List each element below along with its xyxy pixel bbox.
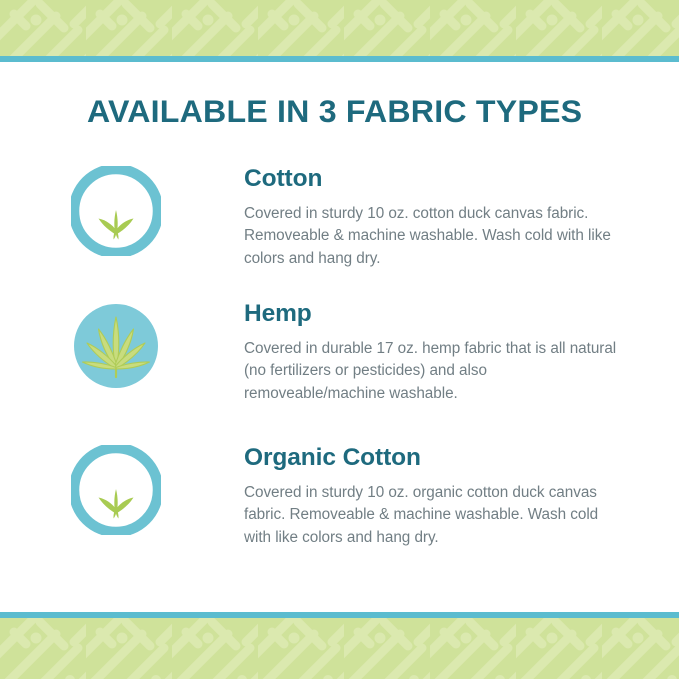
fabric-description: Covered in sturdy 10 oz. cotton duck can…: [244, 203, 624, 271]
bottom-band-pattern: [0, 618, 679, 679]
fabric-description: Covered in durable 17 oz. hemp fabric th…: [244, 338, 624, 406]
bottom-decorative-band: [0, 618, 679, 679]
page-title: AVAILABLE IN 3 FABRIC TYPES: [87, 93, 582, 130]
cotton-boll-icon: [71, 166, 161, 256]
fabric-text-organic-cotton: Organic Cotton Covered in sturdy 10 oz. …: [244, 445, 624, 549]
fabric-name: Cotton: [244, 166, 624, 192]
main-content: AVAILABLE IN 3 FABRIC TYPES: [0, 62, 679, 612]
fabric-name: Hemp: [244, 301, 624, 327]
cotton-boll-icon: [71, 445, 161, 535]
fabric-types-infographic: AVAILABLE IN 3 FABRIC TYPES: [0, 0, 679, 679]
fabric-text-cotton: Cotton Covered in sturdy 10 oz. cotton d…: [244, 166, 624, 270]
fabric-text-hemp: Hemp Covered in durable 17 oz. hemp fabr…: [244, 301, 624, 405]
top-decorative-band: [0, 0, 679, 56]
top-band-pattern: [0, 0, 679, 56]
fabric-name: Organic Cotton: [244, 445, 624, 471]
hemp-leaf-icon: [71, 301, 161, 391]
fabric-description: Covered in sturdy 10 oz. organic cotton …: [244, 482, 624, 550]
